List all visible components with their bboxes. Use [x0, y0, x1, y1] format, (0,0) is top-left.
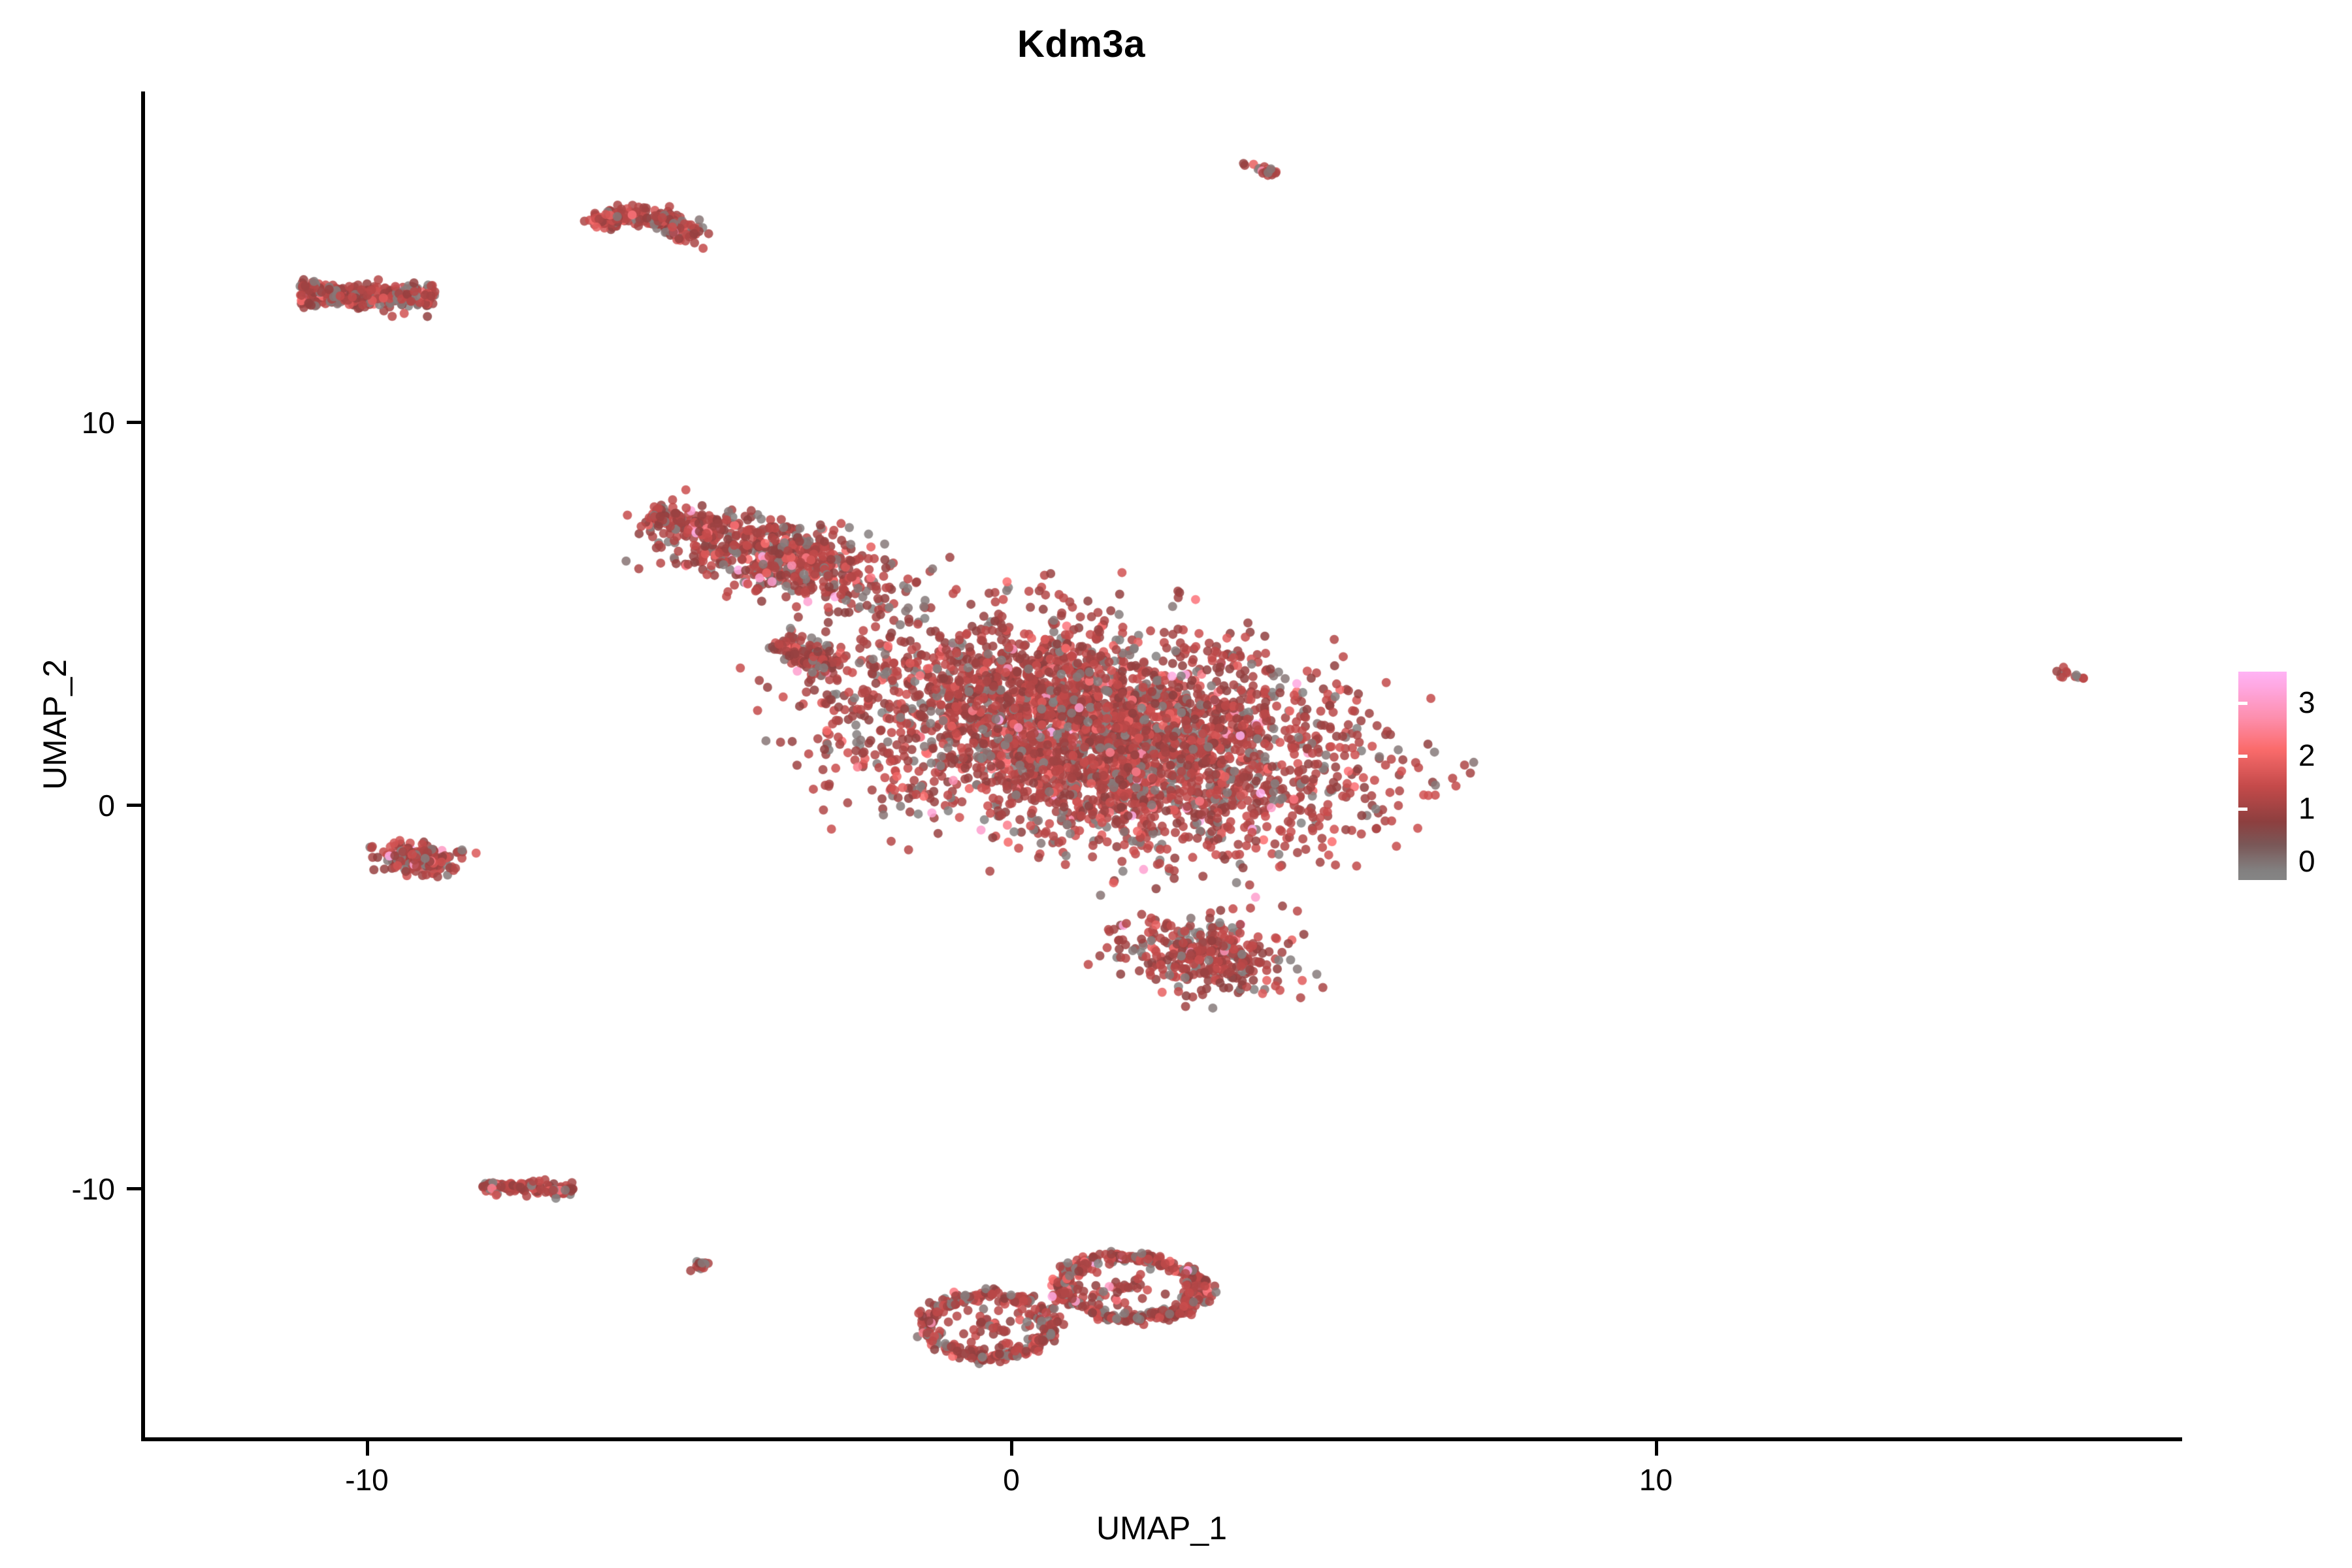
- color-legend: 3210: [2238, 672, 2343, 887]
- x-tick-mark: [366, 1441, 369, 1456]
- x-tick-mark: [1010, 1441, 1013, 1456]
- y-tick-mark: [127, 1187, 141, 1190]
- legend-tick-label: 3: [2298, 687, 2315, 717]
- x-tick-label: -10: [269, 1462, 465, 1497]
- y-tick-label: -10: [0, 1171, 115, 1207]
- y-tick-mark: [127, 421, 141, 424]
- legend-tick-mark: [2238, 808, 2247, 811]
- x-tick-mark: [1655, 1441, 1658, 1456]
- umap-feature-plot: Kdm3a -10010 -10010 UMAP_1 UMAP_2 3210: [0, 0, 2352, 1568]
- x-axis-line: [141, 1437, 2182, 1441]
- y-tick-mark: [127, 804, 141, 807]
- plot-panel: [144, 91, 2182, 1439]
- y-axis-line: [141, 91, 145, 1441]
- y-axis-label: UMAP_2: [36, 529, 74, 921]
- x-tick-label: 0: [913, 1462, 1109, 1497]
- x-tick-label: 10: [1558, 1462, 1754, 1497]
- x-axis-label: UMAP_1: [141, 1509, 2182, 1547]
- legend-tick-label: 1: [2298, 793, 2315, 823]
- legend-tick-mark: [2238, 702, 2247, 705]
- legend-tick-label: 2: [2298, 740, 2315, 770]
- scatter-points-canvas: [144, 91, 2182, 1439]
- legend-tick-mark: [2238, 755, 2247, 758]
- y-tick-label: 10: [0, 405, 115, 440]
- legend-tick-mark: [2334, 702, 2343, 705]
- legend-tick-mark: [2334, 808, 2343, 811]
- legend-tick-label: 0: [2298, 846, 2315, 876]
- legend-tick-mark: [2334, 755, 2343, 758]
- page-title: Kdm3a: [0, 22, 2163, 66]
